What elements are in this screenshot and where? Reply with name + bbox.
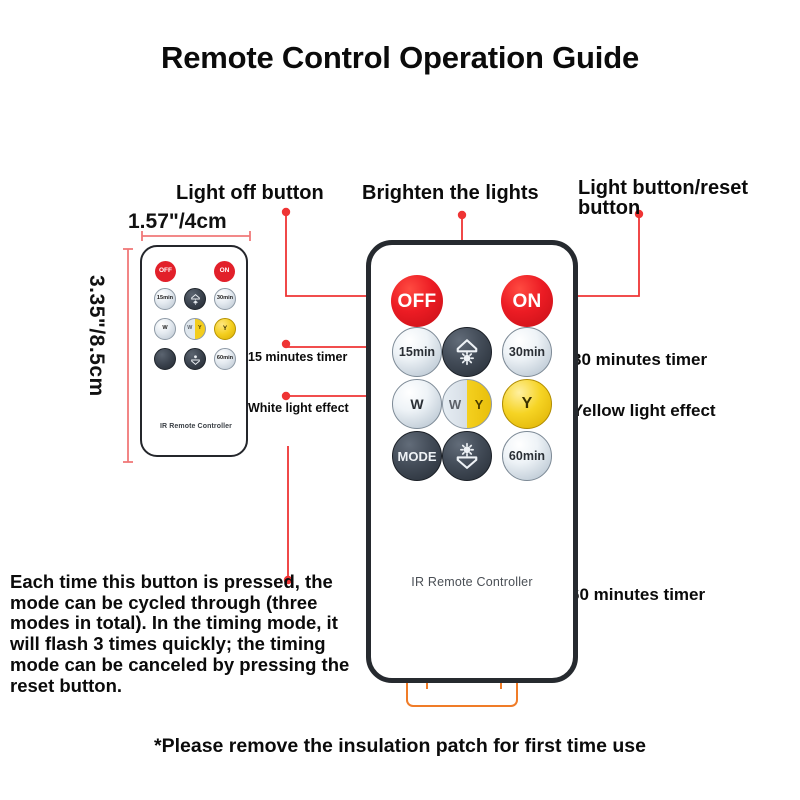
timer-60min-button[interactable]: 60min [502,431,552,481]
callout-white-effect: White light effect [248,401,349,415]
mini-15min-button: 15min [154,288,176,310]
mini-yellow-button: Y [214,318,236,340]
mini-on-button: ON [214,261,235,282]
off-button[interactable]: OFF [391,275,443,327]
mode-description-text: Each time this button is pressed, the mo… [10,572,362,696]
callout-brighten: Brighten the lights [362,182,539,205]
callout-light-off: Light off button [176,182,324,205]
mini-30min-button: 30min [214,288,236,310]
brightness-up-icon [189,293,202,306]
height-dimension-label: 3.35"/8.5cm [84,275,108,397]
yellow-light-button[interactable]: Y [502,379,552,429]
remote-brand-label: IR Remote Controller [371,575,573,589]
warm-button-w-label: W [443,398,467,411]
mini-remote-body: OFF ON 15min 30min W WY Y [140,245,248,457]
mini-brand-label: IR Remote Controller [142,423,250,430]
brightness-up-icon [452,337,482,367]
mini-white-button: W [154,318,176,340]
callout-timer-60: 60 minutes timer [570,585,705,605]
on-button[interactable]: ON [501,275,553,327]
mini-60min-button: 60min [214,348,236,370]
mini-warm-button: WY [184,318,206,340]
guide-canvas: Remote Control Operation Guide [0,0,800,800]
callout-timer-30: 30 minutes timer [572,350,707,370]
timer-15min-button[interactable]: 15min [392,327,442,377]
callout-timer-15: 15 minutes timer [248,350,347,364]
mini-warm-w: W [185,326,195,331]
mini-off-button: OFF [155,261,176,282]
timer-30min-button[interactable]: 30min [502,327,552,377]
mini-mode-button [154,348,176,370]
callout-light-reset: Light button/reset button [578,178,796,219]
mini-brighten-button [184,288,206,310]
mini-dim-button [184,348,206,370]
brightness-down-icon [452,441,482,471]
insulation-patch [406,681,518,707]
brightness-down-icon [189,353,202,366]
white-light-button[interactable]: W [392,379,442,429]
callout-yellow-effect: Yellow light effect [572,401,716,421]
warm-light-button[interactable]: W Y [442,379,492,429]
dim-button[interactable] [442,431,492,481]
remote-control-body: OFF ON 15min 30min W W Y Y MODE [366,240,578,683]
mini-warm-y: Y [195,326,205,331]
width-dimension-label: 1.57"/4cm [128,210,278,234]
mode-button[interactable]: MODE [392,431,442,481]
brighten-button[interactable] [442,327,492,377]
insulation-footnote: *Please remove the insulation patch for … [0,735,800,758]
warm-button-y-label: Y [467,398,491,411]
